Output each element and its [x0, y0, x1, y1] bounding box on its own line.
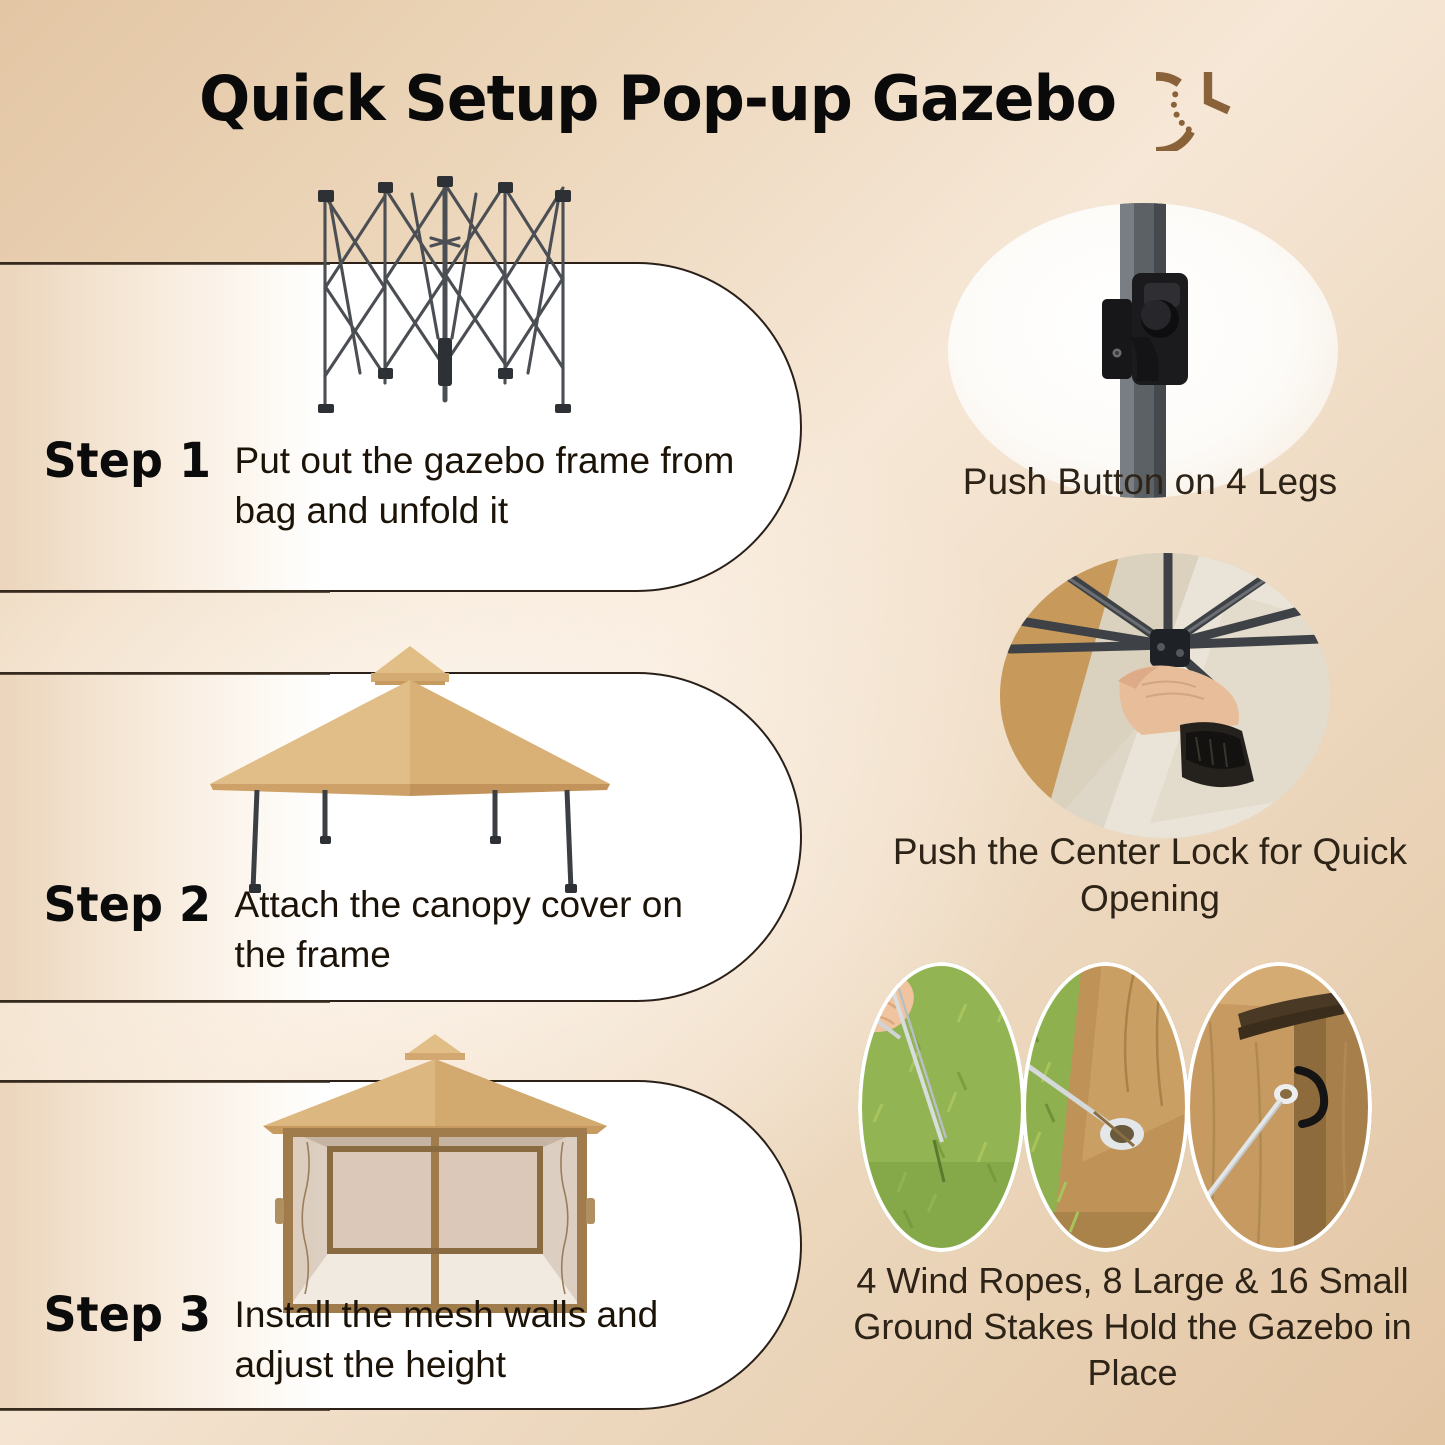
gazebo-mesh-walls-illustration — [245, 1030, 625, 1315]
step-1-label: Step 1 — [43, 436, 211, 486]
card-2-bottom-edge — [0, 1000, 330, 1003]
center-lock-caption: Push the Center Lock for Quick Opening — [860, 828, 1440, 923]
card-3-bottom-edge — [0, 1408, 330, 1411]
ground-stakes-caption: 4 Wind Ropes, 8 Large & 16 Small Ground … — [820, 1258, 1445, 1396]
step-3-description: Install the mesh walls and adjust the he… — [235, 1290, 735, 1390]
step-3-text-row: Step 3 Install the mesh walls and adjust… — [40, 1290, 735, 1390]
stake-through-grommet-photo — [1022, 962, 1189, 1252]
gazebo-frame-illustration — [300, 168, 590, 418]
push-button-caption: Push Button on 4 Legs — [850, 458, 1445, 505]
step-1-description: Put out the gazebo frame from bag and un… — [235, 436, 735, 536]
page-title: Quick Setup Pop-up Gazebo — [199, 68, 1116, 130]
step-1-text-row: Step 1 Put out the gazebo frame from bag… — [40, 436, 735, 536]
step-2-description: Attach the canopy cover on the frame — [235, 880, 735, 980]
step-2-text-row: Step 2 Attach the canopy cover on the fr… — [40, 880, 735, 980]
card-left-fade — [0, 264, 322, 590]
step-2-label: Step 2 — [43, 880, 211, 930]
hand-holding-stake-photo — [858, 962, 1025, 1252]
infographic-page: Quick Setup Pop-up Gazebo — [0, 0, 1445, 1445]
page-header: Quick Setup Pop-up Gazebo — [0, 44, 1445, 154]
gazebo-canopy-illustration — [195, 640, 625, 900]
clock-icon — [1156, 47, 1260, 151]
leg-push-button-photo — [948, 203, 1338, 498]
card-1-top-edge — [0, 262, 330, 265]
wind-rope-hook-photo — [1186, 962, 1372, 1252]
center-lock-photo — [1000, 553, 1330, 838]
card-1-bottom-edge — [0, 590, 330, 593]
step-3-label: Step 3 — [43, 1290, 211, 1340]
